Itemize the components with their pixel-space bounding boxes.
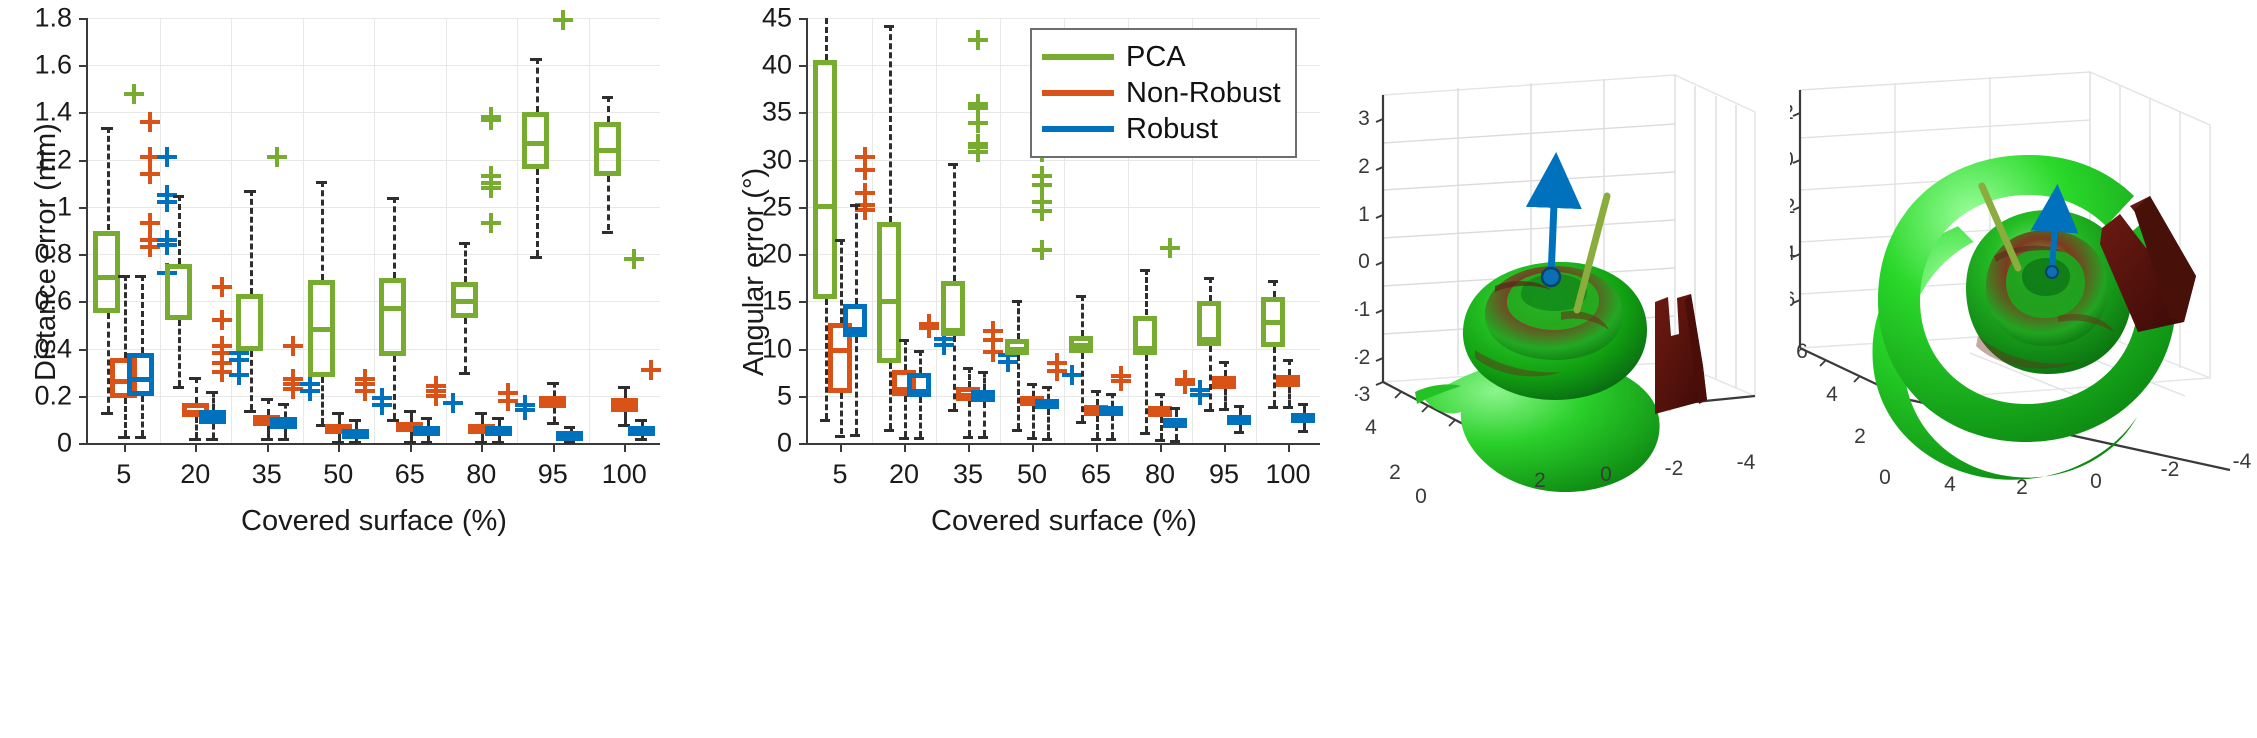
x-tick-label: 65 (395, 461, 425, 488)
whisker-cap (850, 204, 861, 207)
box-plot-median (1276, 379, 1300, 384)
box-whisker (889, 25, 892, 222)
whisker-cap (1204, 277, 1215, 280)
x-tick-mark (624, 443, 626, 452)
x-tick-mark (1032, 443, 1034, 452)
box-plot-median (1227, 416, 1251, 421)
box-whisker (983, 402, 986, 436)
box-plot-outlier (267, 147, 287, 167)
box-plot-outlier (481, 110, 501, 130)
x-axis-label: Covered surface (%) (808, 505, 1320, 538)
whisker-cap (618, 386, 630, 389)
z-tick-label: -1 (1355, 298, 1370, 322)
whisker-cap (1204, 409, 1215, 412)
whisker-cap (1027, 383, 1038, 386)
whisker-cap (564, 426, 576, 429)
x-tick-label: 2 (1854, 425, 1866, 449)
x-tick-label: 4 (1365, 416, 1377, 440)
chart-legend: PCANon-RobustRobust (1030, 28, 1297, 158)
box-whisker (250, 351, 253, 410)
z-tick-label: 2 (1790, 101, 1794, 125)
whisker-cap (899, 437, 910, 440)
electrode-array (1655, 294, 1707, 414)
x-tick-label: 100 (1265, 461, 1310, 488)
whisker-cap (349, 419, 361, 422)
box-plot-box (813, 60, 837, 300)
y-axis-line (806, 18, 808, 443)
whisker-cap (189, 377, 201, 380)
box-plot-median (877, 299, 901, 304)
whisker-cap (884, 25, 895, 28)
whisker-cap (332, 441, 344, 444)
box-plot-median (308, 327, 335, 332)
whisker-cap (635, 419, 647, 422)
box-whisker (1081, 295, 1084, 337)
whisker-cap (316, 181, 328, 184)
box-plot-median (1163, 420, 1187, 425)
y-tick-label: 0 (1600, 463, 1612, 487)
box-plot-median (941, 328, 965, 333)
whisker-cap (206, 438, 218, 441)
z-tick-label: -2 (1355, 346, 1370, 370)
y-tick-label: 4 (1944, 473, 1956, 497)
box-whisker (1209, 277, 1212, 302)
whisker-cap (963, 367, 974, 370)
whisker-cap (492, 441, 504, 444)
box-whisker (904, 396, 907, 438)
box-plot-median (1035, 402, 1059, 407)
box-plot-outlier (157, 235, 177, 255)
z-tick-label: 0 (1790, 148, 1794, 172)
whisker-cap (1106, 438, 1117, 441)
x-tick-mark (1224, 443, 1226, 452)
box-whisker (855, 204, 858, 304)
box-plot-outlier (157, 147, 177, 167)
box-whisker (393, 197, 396, 277)
y-tick-label: 2 (1534, 469, 1546, 493)
whisker-cap (135, 436, 147, 439)
box-plot-median (342, 429, 369, 434)
x-tick-label: 65 (1081, 461, 1111, 488)
origin-point (1542, 268, 1560, 286)
whisker-cap (404, 410, 416, 413)
y-tick-label: 15 (642, 288, 792, 315)
box-plot-median (127, 377, 154, 382)
grid-line-vertical (589, 18, 590, 443)
box-plot-outlier (1111, 371, 1131, 391)
box-plot-box (127, 353, 154, 396)
box-plot-outlier (212, 277, 232, 297)
box-plot-outlier (283, 336, 303, 356)
box-whisker (284, 429, 287, 438)
box-plot-median (270, 422, 297, 427)
box-whisker (1032, 406, 1035, 437)
whisker-cap (118, 275, 130, 278)
x-tick-label: 0 (1415, 485, 1427, 509)
box-plot-outlier (1032, 240, 1052, 260)
box-whisker (1047, 409, 1050, 438)
box-plot-box (165, 264, 192, 321)
whisker-cap (1042, 438, 1053, 441)
x-tick-label: 20 (180, 461, 210, 488)
box-plot-median (1005, 347, 1029, 352)
box-whisker (607, 176, 610, 230)
box-plot-median (907, 389, 931, 394)
box-plot-median (539, 400, 566, 405)
z-tick-label: -3 (1355, 383, 1370, 407)
grid-line-vertical (1000, 18, 1001, 443)
box-whisker (840, 393, 843, 435)
box-plot-outlier (229, 365, 249, 385)
box-plot-outlier (515, 400, 535, 420)
cochlea-3d-canvas-1 (1355, 0, 1805, 510)
legend-item-pca[interactable]: PCA (1042, 39, 1281, 75)
whisker-cap (1155, 439, 1166, 442)
box-whisker (178, 195, 181, 263)
whisker-cap (459, 242, 471, 245)
box-whisker (124, 275, 127, 358)
x-tick-mark (124, 443, 126, 452)
x-tick-mark (338, 443, 340, 452)
x-tick-label: 6 (1796, 340, 1808, 364)
whisker-cap (278, 403, 290, 406)
cochlea-3d-view-1: 3210-1-2-342020-2-4 (1355, 0, 1805, 510)
box-plot-median (379, 306, 406, 311)
x-axis-label: Covered surface (%) (88, 505, 660, 538)
x-tick-label: 5 (832, 461, 847, 488)
x-tick-label: 5 (116, 461, 131, 488)
whisker-cap (1012, 300, 1023, 303)
box-plot-outlier (300, 381, 320, 401)
x-tick-mark (1160, 443, 1162, 452)
box-whisker (919, 350, 922, 374)
x-tick-label: 80 (1145, 461, 1175, 488)
box-plot-median (594, 148, 621, 153)
y-tick-label: 2 (2016, 476, 2028, 500)
whisker-cap (1170, 407, 1181, 410)
z-tick-label: 1 (1358, 203, 1370, 227)
box-plot-median (451, 299, 478, 304)
box-plot-median (611, 403, 638, 408)
y-tick-label: 20 (642, 241, 792, 268)
whisker-cap (850, 434, 861, 437)
whisker-cap (1091, 438, 1102, 441)
whisker-cap (1283, 406, 1294, 409)
box-whisker (393, 356, 396, 420)
x-tick-label: 95 (1209, 461, 1239, 488)
box-whisker (464, 318, 467, 372)
whisker-cap (835, 435, 846, 438)
cochlea-3d-view-2: 20-2-4-66420420-2-4 (1790, 0, 2257, 510)
x-tick-mark (553, 443, 555, 452)
whisker-cap (1140, 432, 1151, 435)
legend-item-label: Robust (1126, 115, 1218, 144)
y-tick-label: 40 (642, 52, 792, 79)
box-whisker (1145, 355, 1148, 432)
box-plot-median (1133, 346, 1157, 351)
x-tick-label: 4 (1826, 383, 1838, 407)
y-tick-label: 10 (642, 335, 792, 362)
whisker-cap (884, 429, 895, 432)
whisker-cap (1234, 405, 1245, 408)
z-tick-label: 0 (1358, 250, 1370, 274)
box-whisker (855, 337, 858, 433)
box-plot-outlier (968, 113, 988, 133)
box-plot-outlier (968, 142, 988, 162)
whisker-cap (602, 231, 614, 234)
box-whisker (624, 412, 627, 424)
x-tick-label: 35 (252, 461, 282, 488)
whisker-cap (244, 190, 256, 193)
box-whisker (321, 181, 324, 280)
box-plot-median (522, 141, 549, 146)
box-plot-outlier (1160, 238, 1180, 258)
whisker-cap (1076, 295, 1087, 298)
whisker-cap (530, 58, 542, 61)
robust-axis-arrow (1542, 180, 1560, 286)
x-tick-mark (968, 443, 970, 452)
whisker-cap (1283, 359, 1294, 362)
whisker-cap (963, 436, 974, 439)
whisker-cap (261, 438, 273, 441)
whisker-cap (948, 163, 959, 166)
legend-item-non-robust[interactable]: Non-Robust (1042, 75, 1281, 111)
whisker-cap (1219, 408, 1230, 411)
box-whisker (1288, 387, 1291, 406)
box-plot-outlier (212, 310, 232, 330)
whisker-cap (914, 437, 925, 440)
box-plot-outlier (481, 213, 501, 233)
legend-item-robust[interactable]: Robust (1042, 111, 1281, 147)
box-plot-outlier (855, 160, 875, 180)
whisker-cap (1234, 431, 1245, 434)
whisker-cap (475, 412, 487, 415)
box-plot-box (379, 278, 406, 356)
whisker-cap (820, 419, 831, 422)
whisker-cap (404, 441, 416, 444)
plot-area (88, 18, 660, 443)
box-whisker (904, 339, 907, 370)
angular-error-panel: Angular error (°) Covered surface (%) PC… (700, 0, 1360, 738)
box-plot-box (236, 294, 263, 351)
whisker-cap (261, 398, 273, 401)
box-plot-median (843, 327, 867, 332)
box-whisker (968, 401, 971, 436)
whisker-cap (1091, 390, 1102, 393)
box-whisker (536, 58, 539, 112)
box-whisker (536, 169, 539, 256)
box-whisker (141, 275, 144, 353)
x-tick-label: 35 (953, 461, 983, 488)
whisker-cap (459, 372, 471, 375)
box-whisker (1224, 389, 1227, 408)
whisker-cap (1298, 403, 1309, 406)
box-whisker (1145, 269, 1148, 315)
box-whisker (250, 190, 253, 294)
whisker-cap (547, 382, 559, 385)
whisker-cap (602, 96, 614, 99)
box-plot-median (1197, 337, 1221, 342)
box-whisker (1096, 416, 1099, 439)
y-tick-label: 5 (642, 382, 792, 409)
z-tick-label: 3 (1358, 107, 1370, 131)
legend-item-label: Non-Robust (1126, 79, 1281, 108)
whisker-cap (1155, 393, 1166, 396)
whisker-cap (101, 127, 113, 130)
box-whisker (825, 18, 828, 60)
x-tick-label: 95 (538, 461, 568, 488)
x-tick-mark (410, 443, 412, 452)
z-tick-label: -4 (1790, 242, 1795, 266)
box-whisker (464, 242, 467, 282)
whisker-cap (835, 239, 846, 242)
x-tick-label: 2 (1389, 461, 1401, 485)
whisker-cap (978, 371, 989, 374)
whisker-cap (948, 409, 959, 412)
line-swatch-icon (1042, 54, 1114, 60)
box-plot-box (877, 222, 901, 363)
grid-line-vertical (936, 18, 937, 443)
y-tick-label: 0.6 (0, 288, 72, 315)
box-plot-median (1148, 410, 1172, 415)
y-tick-label: -4 (1737, 451, 1756, 475)
line-swatch-icon (1042, 126, 1114, 132)
whisker-cap (475, 441, 487, 444)
x-tick-mark (1288, 443, 1290, 452)
whisker-cap (349, 441, 361, 444)
distance-error-panel: Distance error (mm) Covered surface (%) … (0, 0, 700, 738)
box-plot-outlier (443, 393, 463, 413)
y-tick-label: 0 (0, 430, 72, 457)
z-tick-label: -2 (1790, 195, 1795, 219)
box-plot-box (843, 304, 867, 337)
box-plot-median (556, 433, 583, 438)
whisker-cap (1042, 386, 1053, 389)
box-plot-median (199, 415, 226, 420)
z-tick-label: -6 (1790, 288, 1795, 312)
y-tick-label: 1.4 (0, 99, 72, 126)
x-tick-label: 0 (1879, 466, 1891, 490)
whisker-cap (978, 436, 989, 439)
y-tick-label: -4 (2233, 450, 2252, 474)
x-tick-mark (840, 443, 842, 452)
whisker-cap (1106, 393, 1117, 396)
y-tick-label: 1.6 (0, 52, 72, 79)
box-plot-median (165, 315, 192, 320)
whisker-cap (173, 195, 185, 198)
box-plot-median (1099, 408, 1123, 413)
box-whisker (141, 396, 144, 436)
whisker-cap (173, 386, 185, 389)
box-plot-median (485, 429, 512, 434)
x-tick-mark (1096, 443, 1098, 452)
x-tick-label: 50 (1017, 461, 1047, 488)
whisker-cap (492, 417, 504, 420)
y-tick-label: 30 (642, 146, 792, 173)
box-plot-outlier (553, 10, 573, 30)
box-whisker (107, 127, 110, 231)
y-tick-label: 45 (642, 5, 792, 32)
y-axis-line (86, 18, 88, 443)
whisker-cap (244, 410, 256, 413)
y-tick-label: 0 (2090, 470, 2102, 494)
box-whisker (321, 377, 324, 424)
figure-root: Distance error (mm) Covered surface (%) … (0, 0, 2257, 738)
y-tick-label: 0.4 (0, 335, 72, 362)
whisker-cap (101, 412, 113, 415)
box-whisker (919, 397, 922, 438)
x-tick-mark (481, 443, 483, 452)
whisker-cap (387, 197, 399, 200)
z-tick-label: 2 (1358, 155, 1370, 179)
box-plot-outlier (124, 84, 144, 104)
box-whisker (178, 320, 181, 386)
y-tick-label: 0 (642, 430, 792, 457)
cochlea-surface (1872, 155, 2176, 480)
box-plot-median (971, 394, 995, 399)
box-plot-median (1212, 380, 1236, 385)
whisker-cap (1170, 440, 1181, 443)
whisker-cap (189, 438, 201, 441)
whisker-cap (421, 441, 433, 444)
box-plot-median (1261, 320, 1285, 325)
x-tick-mark (195, 443, 197, 452)
box-whisker (1017, 300, 1020, 339)
box-plot-outlier (1062, 365, 1082, 385)
x-tick-label: 80 (466, 461, 496, 488)
whisker-cap (118, 436, 130, 439)
y-tick-label: 0.8 (0, 241, 72, 268)
whisker-cap (1219, 361, 1230, 364)
box-whisker (953, 163, 956, 280)
box-plot-outlier (372, 395, 392, 415)
box-whisker (195, 377, 198, 403)
whisker-cap (135, 275, 147, 278)
whisker-cap (914, 350, 925, 353)
box-plot-box (93, 231, 120, 314)
whisker-cap (206, 391, 218, 394)
whisker-cap (421, 417, 433, 420)
box-plot-median (236, 346, 263, 351)
line-swatch-icon (1042, 90, 1114, 96)
x-tick-mark (904, 443, 906, 452)
grid-line-vertical (517, 18, 518, 443)
whisker-cap (899, 339, 910, 342)
x-tick-label: 50 (323, 461, 353, 488)
box-plot-median (813, 204, 837, 209)
box-whisker (1017, 355, 1020, 429)
box-plot-outlier (934, 335, 954, 355)
y-tick-label: -2 (1665, 457, 1684, 481)
box-whisker (212, 424, 215, 438)
x-tick-label: 20 (889, 461, 919, 488)
y-tick-label: -2 (2161, 458, 2180, 482)
box-plot-median (93, 275, 120, 280)
whisker-cap (1012, 429, 1023, 432)
whisker-cap (1140, 269, 1151, 272)
whisker-cap (1298, 430, 1309, 433)
box-plot-outlier (641, 360, 661, 380)
whisker-cap (1268, 406, 1279, 409)
box-whisker (124, 398, 127, 436)
box-whisker (607, 96, 610, 122)
y-tick-label: 1.8 (0, 5, 72, 32)
whisker-cap (332, 412, 344, 415)
y-tick-label: 35 (642, 99, 792, 126)
box-plot-median (828, 348, 852, 353)
box-plot-outlier (968, 30, 988, 50)
legend-item-label: PCA (1126, 43, 1186, 72)
